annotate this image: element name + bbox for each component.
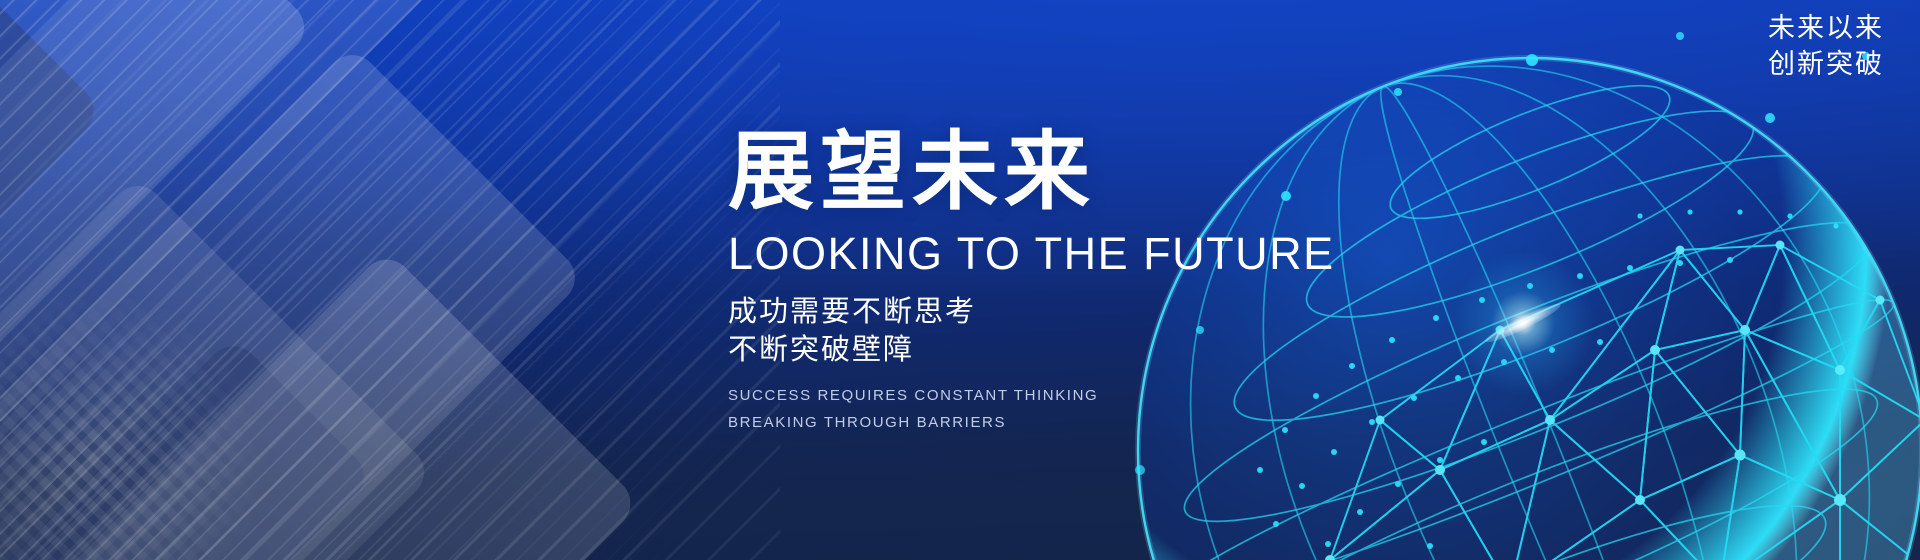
subtitle-chinese: 成功需要不断思考 不断突破壁障	[728, 293, 1488, 370]
subtitle-chinese-line1: 成功需要不断思考	[728, 293, 1488, 331]
subtitle-chinese-line2: 不断突破壁障	[728, 331, 1488, 369]
corner-slogan-line1: 未来以来	[1768, 10, 1884, 46]
deco-band-dark-1	[0, 0, 104, 549]
left-geometric-decoration	[0, 0, 780, 560]
deco-band-3	[0, 44, 586, 560]
subtitle-english-line2: BREAKING THROUGH BARRIERS	[728, 410, 1488, 436]
deco-band-1	[0, 0, 315, 560]
corner-slogan-line2: 创新突破	[1768, 46, 1884, 82]
hero-banner: 未来以来 创新突破 展望未来 LOOKING TO THE FUTURE 成功需…	[0, 0, 1920, 560]
rotated-square-dot-grid	[0, 164, 391, 560]
diagonal-stripes-wide	[0, 0, 780, 560]
deco-band-4	[0, 175, 435, 560]
page-title: 展望未来	[728, 128, 1488, 217]
deco-band-2	[0, 0, 463, 538]
headline-block: 展望未来 LOOKING TO THE FUTURE 成功需要不断思考 不断突破…	[728, 128, 1488, 436]
deco-band-dark-2	[0, 335, 375, 560]
subtitle-english: SUCCESS REQUIRES CONSTANT THINKING BREAK…	[728, 383, 1488, 436]
diagonal-stripes-fine	[0, 0, 780, 560]
page-title-english: LOOKING TO THE FUTURE	[728, 229, 1488, 279]
corner-slogan: 未来以来 创新突破	[1768, 10, 1884, 83]
subtitle-english-line1: SUCCESS REQUIRES CONSTANT THINKING	[728, 383, 1488, 409]
deco-band-5	[19, 249, 641, 560]
